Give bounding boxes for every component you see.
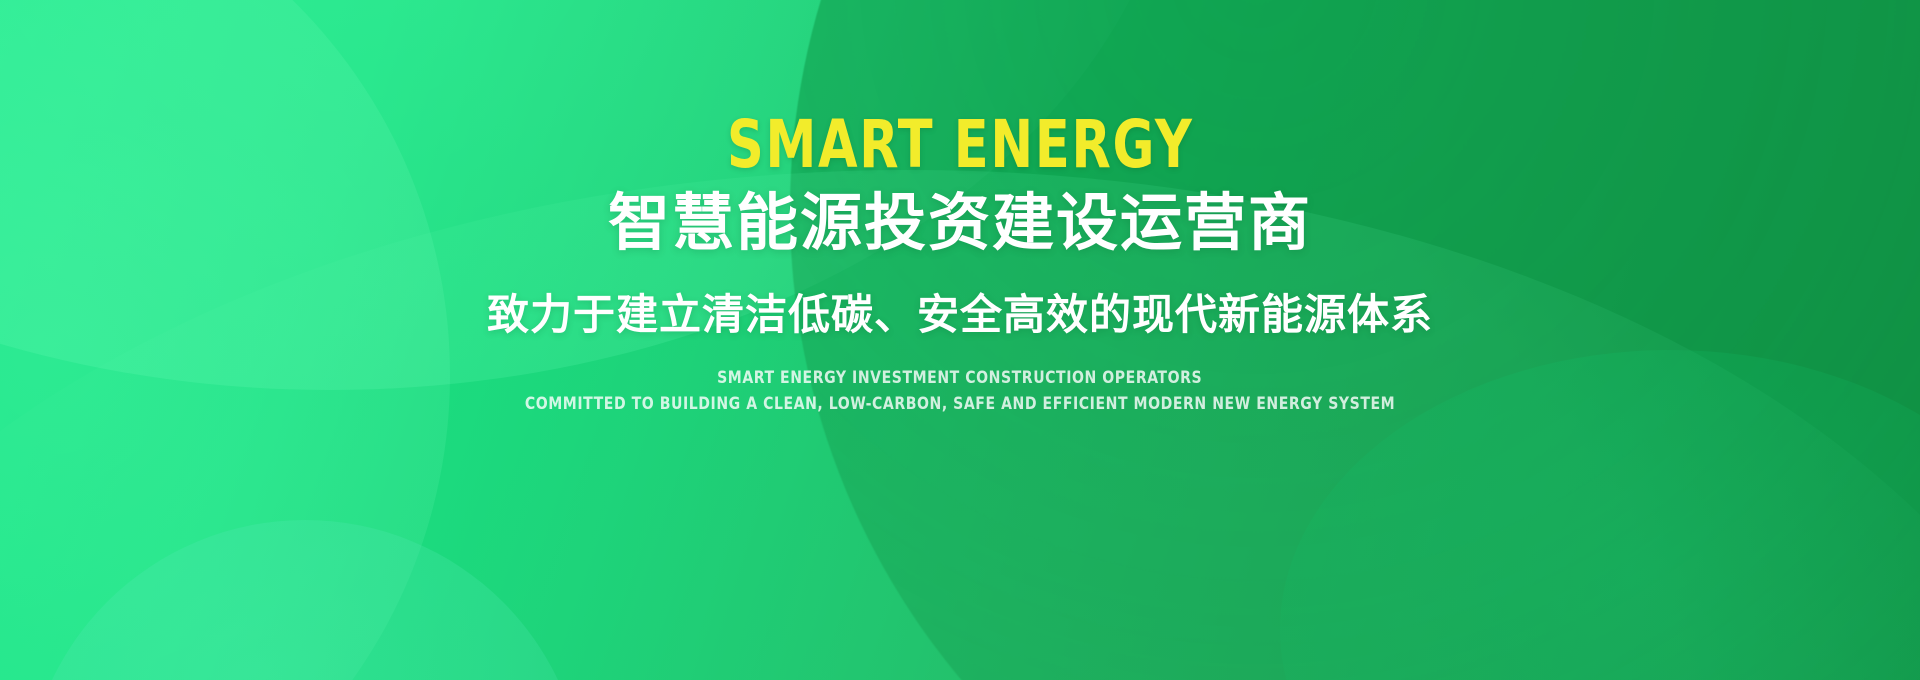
tagline-english-secondary: COMMITTED TO BUILDING A CLEAN, LOW-CARBO… xyxy=(525,392,1395,417)
hero-text-stack: SMART ENERGY 智慧能源投资建设运营商 致力于建立清洁低碳、安全高效的… xyxy=(0,0,1920,680)
tagline-english-primary: SMART ENERGY INVESTMENT CONSTRUCTION OPE… xyxy=(717,366,1202,391)
subheadline-chinese: 致力于建立清洁低碳、安全高效的现代新能源体系 xyxy=(487,291,1433,339)
headline-english: SMART ENERGY xyxy=(727,112,1194,178)
smart-energy-hero-banner: SMART ENERGY 智慧能源投资建设运营商 致力于建立清洁低碳、安全高效的… xyxy=(0,0,1920,680)
headline-chinese: 智慧能源投资建设运营商 xyxy=(608,188,1312,257)
